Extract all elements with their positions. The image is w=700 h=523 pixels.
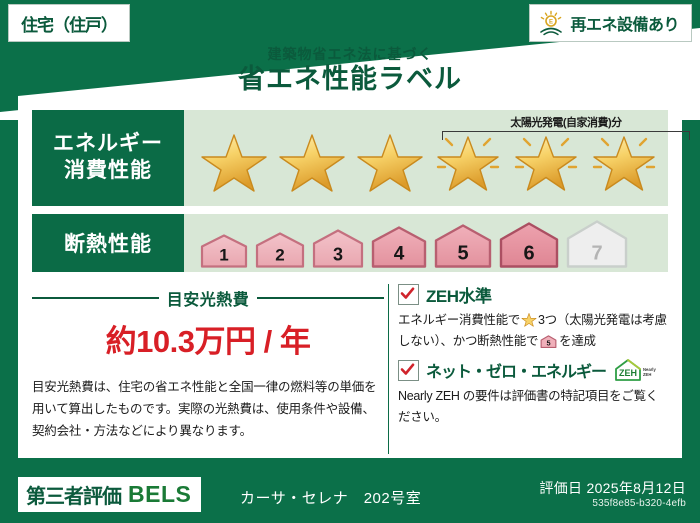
net-zero-title: ネット・ゼロ・エネルギー [426, 358, 606, 382]
check-icon [400, 286, 415, 301]
zeh-standard-desc: エネルギー消費性能で3つ（太陽光発電は考慮しない）、かつ断熱性能で5を達成 [398, 310, 670, 351]
insulation-level-number: 2 [253, 246, 307, 266]
title-subtitle: 建築物省エネ法に基づく [18, 44, 682, 64]
zeh-standard-head: ZEH水準 [398, 282, 670, 307]
energy-label-line1: エネルギー [53, 131, 163, 158]
renewable-badge-label: 再エネ設備あり [570, 11, 679, 35]
title-block: 建築物省エネ法に基づく 省エネ性能ラベル [18, 44, 682, 93]
building-name: カーサ・セレナ 202号室 [240, 487, 421, 508]
inline-star-icon [521, 311, 537, 327]
net-zero-block: ネット・ゼロ・エネルギー ZEH Nearly ZEH Nearly ZEH の… [398, 357, 670, 427]
energy-performance-row: エネルギー 消費性能 太陽光発電(自家消費)分 [32, 110, 668, 206]
heading-rule-left [32, 297, 159, 299]
svg-text:5: 5 [547, 338, 551, 347]
insulation-level-number: 6 [497, 243, 561, 266]
net-zero-head: ネット・ゼロ・エネルギー ZEH Nearly ZEH [398, 357, 670, 383]
dwelling-type-badge: 住宅（住戸） [8, 4, 130, 42]
evaluation-id: 535f8e85-b320-4efb [592, 498, 686, 509]
insulation-level-badge: 1 [198, 230, 250, 270]
svg-text:ZEH: ZEH [619, 368, 637, 378]
energy-performance-body: 太陽光発電(自家消費)分 [184, 110, 668, 206]
zeh-desc-part-a: エネルギー消費性能で [398, 313, 520, 327]
insulation-level-scale: 1 2 3 [198, 217, 630, 270]
svg-text:ZEH: ZEH [643, 372, 651, 377]
insulation-performance-row: 断熱性能 1 [32, 214, 668, 272]
star-icon [196, 123, 272, 193]
insulation-level-number: 4 [369, 244, 429, 266]
insulation-level-badge: 4 [369, 223, 429, 270]
lower-section: 目安光熱費 約10.3万円 / 年 目安光熱費は、住宅の省エネ性能と全国一律の燃… [18, 282, 682, 458]
title-main: 省エネ性能ラベル [18, 65, 682, 93]
zeh-desc-part-c: を達成 [559, 334, 596, 348]
vertical-divider [388, 284, 389, 454]
cost-value: 約10.3万円 / 年 [32, 316, 384, 361]
energy-performance-label: エネルギー 消費性能 [32, 110, 184, 206]
zeh-standard-checkbox[interactable] [398, 284, 419, 305]
energy-label-line2: 消費性能 [64, 158, 152, 185]
bels-certification-box: 第三者評価 BELS [18, 477, 201, 512]
insulation-level-badge-inactive: 7 [564, 217, 630, 270]
cost-panel: 目安光熱費 約10.3万円 / 年 目安光熱費は、住宅の省エネ性能と全国一律の燃… [32, 282, 384, 443]
star-icon [352, 123, 428, 193]
insulation-level-badge: 3 [310, 226, 366, 270]
net-zero-desc: Nearly ZEH の要件は評価書の特記項目をご覧ください。 [398, 386, 670, 427]
inline-house-level-icon: 5 [540, 334, 557, 349]
solar-sun-icon: E [538, 10, 564, 36]
footer-bar: 第三者評価 BELS カーサ・セレナ 202号室 評価日 2025年8月12日 … [0, 467, 700, 523]
bels-en-label: BELS [128, 481, 191, 508]
check-icon [400, 362, 415, 377]
zeh-standard-title: ZEH水準 [426, 282, 492, 307]
renewable-equipment-badge: E 再エネ設備あり [529, 4, 692, 42]
star-icon-solar [430, 123, 506, 193]
insulation-performance-body: 1 2 3 [184, 214, 668, 272]
insulation-performance-label: 断熱性能 [32, 214, 184, 272]
energy-star-rating [196, 123, 662, 193]
insulation-level-number: 5 [432, 243, 494, 266]
insulation-level-number: 3 [310, 245, 366, 266]
zeh-standard-block: ZEH水準 エネルギー消費性能で3つ（太陽光発電は考慮しない）、かつ断熱性能で5… [398, 282, 670, 351]
insulation-level-number: 1 [198, 246, 250, 266]
evaluation-date: 評価日 2025年8月12日 [539, 478, 686, 498]
heading-rule-right [257, 297, 384, 299]
svg-text:E: E [549, 20, 553, 26]
insulation-level-badge: 6 [497, 219, 561, 270]
insulation-level-badge: 2 [253, 228, 307, 270]
cost-heading: 目安光熱費 [167, 286, 250, 310]
star-icon-solar [586, 123, 662, 193]
bels-jp-label: 第三者評価 [26, 480, 121, 509]
star-icon [274, 123, 350, 193]
net-zero-checkbox[interactable] [398, 360, 419, 381]
cost-heading-row: 目安光熱費 [32, 286, 384, 310]
insulation-level-badge: 5 [432, 221, 494, 270]
zeh-panel: ZEH水準 エネルギー消費性能で3つ（太陽光発電は考慮しない）、かつ断熱性能で5… [398, 282, 670, 434]
label-card: 建築物省エネ法に基づく 省エネ性能ラベル エネルギー 消費性能 太陽光発電(自家… [18, 96, 682, 458]
insulation-level-number: 7 [564, 243, 630, 266]
bels-energy-label: 住宅（住戸） E 再エネ設備あり 建築物省エネ法に基づく 省エネ性能ラベル [0, 0, 700, 523]
cost-note: 目安光熱費は、住宅の省エネ性能と全国一律の燃料等の単価を用いて算出したものです。… [32, 377, 384, 443]
zeh-nearly-logo-icon: ZEH Nearly ZEH [613, 357, 659, 383]
star-icon-solar [508, 123, 584, 193]
